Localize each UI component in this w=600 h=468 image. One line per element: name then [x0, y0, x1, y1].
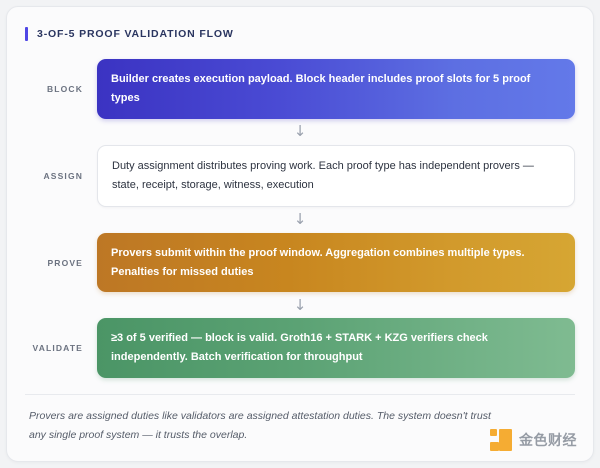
step-label-prove: PROVE: [25, 258, 97, 268]
flow-step-validate: VALIDATE ≥3 of 5 verified — block is val…: [25, 318, 575, 378]
step-text-block: Builder creates execution payload. Block…: [111, 70, 561, 108]
connector-arrow-3: ↓: [25, 292, 575, 318]
page-title: 3-OF-5 PROOF VALIDATION FLOW: [37, 28, 234, 40]
step-text-prove: Provers submit within the proof window. …: [111, 244, 561, 282]
flow-step-assign: ASSIGN Duty assignment distributes provi…: [25, 145, 575, 207]
step-label-validate: VALIDATE: [25, 343, 97, 353]
title-accent-bar: [25, 27, 28, 41]
flow-card: 3-OF-5 PROOF VALIDATION FLOW BLOCK Build…: [6, 6, 594, 462]
connector-arrow-1: ↓: [25, 119, 575, 145]
arrow-down-icon: ↓: [294, 212, 307, 227]
step-text-validate-emphasis: ≥3 of 5 verified: [111, 332, 188, 344]
flow-diagram: BLOCK Builder creates execution payload.…: [25, 59, 575, 378]
flow-step-prove: PROVE Provers submit within the proof wi…: [25, 233, 575, 293]
arrow-down-icon: ↓: [294, 298, 307, 313]
brand-logo-icon: [490, 429, 512, 451]
watermark: 金色财经: [490, 429, 577, 451]
flow-step-block: BLOCK Builder creates execution payload.…: [25, 59, 575, 119]
step-box-assign: Duty assignment distributes proving work…: [97, 145, 575, 207]
step-box-block: Builder creates execution payload. Block…: [97, 59, 575, 119]
arrow-down-icon: ↓: [294, 124, 307, 139]
step-text-validate-wrapper: ≥3 of 5 verified — block is valid. Groth…: [111, 329, 561, 367]
connector-arrow-2: ↓: [25, 207, 575, 233]
step-box-validate: ≥3 of 5 verified — block is valid. Groth…: [97, 318, 575, 378]
step-label-block: BLOCK: [25, 84, 97, 94]
step-text-assign: Duty assignment distributes proving work…: [112, 157, 560, 195]
step-box-prove: Provers submit within the proof window. …: [97, 233, 575, 293]
footer-text: Provers are assigned duties like validat…: [29, 407, 495, 444]
step-label-assign: ASSIGN: [25, 171, 97, 181]
watermark-text: 金色财经: [519, 430, 577, 450]
card-header: 3-OF-5 PROOF VALIDATION FLOW: [25, 27, 575, 41]
